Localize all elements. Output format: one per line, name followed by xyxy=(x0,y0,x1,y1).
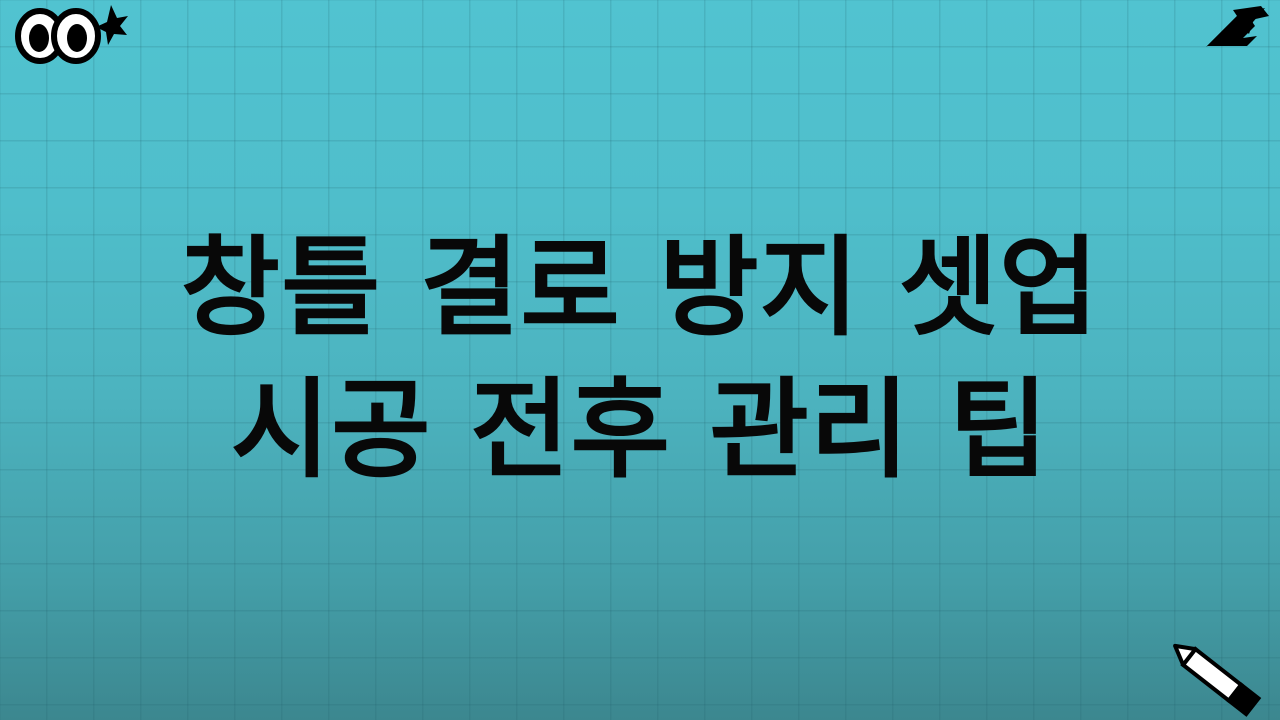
thumbnail-canvas: 창틀 결로 방지 셋업 시공 전후 관리 팁 xyxy=(0,0,1280,720)
headline-line-2: 시공 전후 관리 팁 xyxy=(231,365,1049,497)
headline-block: 창틀 결로 방지 셋업 시공 전후 관리 팁 xyxy=(0,0,1280,720)
headline-line-1: 창틀 결로 방지 셋업 xyxy=(181,223,1100,355)
